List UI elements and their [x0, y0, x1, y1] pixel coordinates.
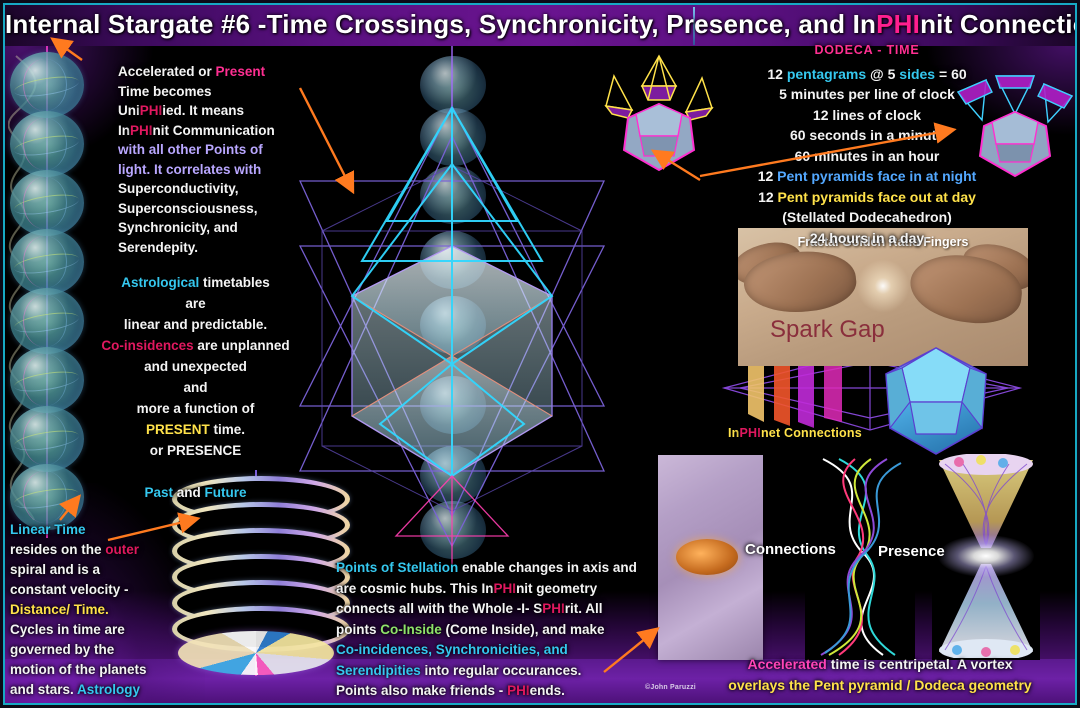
sphere-node: [10, 288, 84, 354]
text-run: are: [185, 296, 205, 311]
text-run: Superconductivity,: [118, 181, 239, 196]
text-line: and: [88, 377, 303, 398]
inphinet-connections-label: InPHInet Connections: [728, 424, 862, 444]
text-run: PHI: [740, 426, 761, 440]
right-edge-cyan-rule: [1077, 452, 1079, 660]
text-run: and unexpected: [144, 359, 247, 374]
text-run: and: [183, 380, 207, 395]
text-line: 12 Pent pyramids face in at night: [742, 166, 992, 187]
text-run: motion of the planets: [10, 662, 147, 677]
text-run: PHI: [140, 103, 163, 118]
text-run: Points of Stellation: [336, 560, 458, 575]
text-run: more a function of: [137, 401, 255, 416]
text-run: time is centripetal. A vortex: [827, 656, 1013, 672]
text-run: governed by the: [10, 642, 114, 657]
copyright-notice: ©John Paruzzi: [645, 684, 696, 691]
text-run: with all other Points of: [118, 142, 263, 157]
vortex-hourglass-graphic: [932, 452, 1040, 660]
text-run: Co-insidences: [101, 338, 193, 353]
astrological-timetables-text: Astrological timetablesarelinear and pre…: [88, 272, 303, 503]
sphere-node: [10, 406, 84, 472]
text-line: constant velocity -: [10, 580, 195, 600]
text-run: outer: [105, 542, 139, 557]
spark-gap-caption: Spark Gap: [770, 316, 885, 344]
text-run: 60 seconds in a minute: [790, 127, 944, 143]
text-run: and stars.: [10, 682, 77, 697]
text-run: pentagrams: [787, 66, 866, 82]
text-run: Linear Time: [10, 522, 86, 537]
text-line: 60 minutes in an hour: [742, 146, 992, 167]
text-run: ends.: [530, 683, 565, 698]
text-run: Co-incidences, Synchronicities, and: [336, 642, 568, 657]
text-run: linear and predictable.: [124, 317, 267, 332]
connections-label: Connections: [745, 540, 836, 560]
time-spiral-coil: [172, 476, 342, 671]
dodeca-time-lines: 12 pentagrams @ 5 sides = 605 minutes pe…: [742, 64, 992, 249]
accelerated-present-time-text: Accelerated or PresentTime becomesUniPHI…: [118, 62, 323, 257]
text-run: PHI: [494, 581, 517, 596]
points-of-stellation-text: Points of Stellation enable changes in a…: [336, 558, 636, 702]
text-run: Co-Inside: [380, 622, 442, 637]
text-run: Pent pyramids face in at night: [777, 168, 976, 184]
text-line: Past and Future: [88, 482, 303, 503]
page-title: Internal Stargate #6 -Time Crossings, Sy…: [5, 9, 1075, 40]
text-run: = 60: [935, 66, 967, 82]
text-line: points Co-Inside (Come Inside), and make: [336, 620, 636, 641]
text-line: Accelerated time is centripetal. A vorte…: [700, 654, 1060, 675]
text-run: Superconsciousness,: [118, 201, 258, 216]
sphere-node: [10, 170, 84, 236]
text-line: Co-insidences are unplanned: [88, 335, 303, 356]
sphere-node: [10, 229, 84, 295]
text-run: In: [118, 123, 130, 138]
text-run: sides: [899, 66, 935, 82]
text-line: PRESENT time.: [88, 419, 303, 440]
text-run: connects all with the Whole -I- S: [336, 601, 542, 616]
text-run: 12: [758, 168, 777, 184]
sphere-node: [10, 347, 84, 413]
text-line: governed by the: [10, 640, 195, 660]
text-run: are unplanned: [194, 338, 290, 353]
text-line: UniPHIied. It means: [118, 101, 323, 121]
text-line: Co-incidences, Synchronicities, and: [336, 640, 636, 661]
text-line: and unexpected: [88, 356, 303, 377]
hand-knot-glow: [676, 539, 738, 575]
text-run: Serendipities: [336, 663, 421, 678]
text-line: are cosmic hubs. This InPHInit geometry: [336, 579, 636, 600]
text-line: connects all with the Whole -I- SPHIrit.…: [336, 599, 636, 620]
sphere-chain-column: [10, 52, 88, 530]
dodeca-time-text: DODECA - TIME 12 pentagrams @ 5 sides = …: [742, 40, 992, 248]
text-run: rit. All: [565, 601, 603, 616]
text-line: Cycles in time are: [10, 620, 195, 640]
text-run: points: [336, 622, 380, 637]
text-run: Astrology: [77, 682, 140, 697]
presence-label: Presence: [878, 542, 945, 562]
text-run: light. It correlates with: [118, 162, 261, 177]
text-run: Past: [144, 485, 173, 500]
text-run: @: [866, 66, 887, 82]
text-line: Synchronicity, and: [118, 218, 323, 238]
text-run: net Connections: [761, 426, 862, 440]
text-line: light. It correlates with: [118, 160, 323, 180]
text-line: more a function of: [88, 398, 303, 419]
text-run: 5 minutes per line of clock: [779, 86, 955, 102]
text-run: PHI: [507, 683, 530, 698]
dodeca-time-heading: DODECA - TIME: [742, 40, 992, 61]
text-line: overlays the Pent pyramid / Dodeca geome…: [700, 675, 1060, 696]
text-run: constant velocity -: [10, 582, 129, 597]
text-run: ied. It means: [162, 103, 244, 118]
text-run: (Come Inside), and make: [442, 622, 605, 637]
text-run: (Stellated Dodecahedron): [782, 209, 952, 225]
text-line: Distance/ Time.: [10, 600, 195, 620]
vortex-center-flare: [938, 535, 1034, 577]
stellated-dodecahedron-yellow-icon: [598, 48, 720, 180]
text-line: Serendepity.: [118, 238, 323, 258]
text-run: are cosmic hubs. This In: [336, 581, 494, 596]
sphere-node: [10, 111, 84, 177]
text-run: Points also make friends -: [336, 683, 507, 698]
text-line: 24 hours in a day: [742, 228, 992, 249]
text-run: spiral and is a: [10, 562, 100, 577]
text-run: into regular occurances.: [421, 663, 582, 678]
text-line: 12 pentagrams @ 5 sides = 60: [742, 64, 992, 85]
text-run: Accelerated: [747, 656, 826, 672]
dodecahedron-blue-icon: [878, 346, 994, 458]
text-line: InPHInit Communication: [118, 121, 323, 141]
coil-base-disc: [178, 631, 334, 675]
text-line: linear and predictable.: [88, 314, 303, 335]
text-line: or PRESENCE: [88, 440, 303, 461]
text-run: or PRESENCE: [150, 443, 242, 458]
sphere-node: [10, 52, 84, 118]
text-run: Future: [205, 485, 247, 500]
linear-time-text: Linear Timeresides on the outerspiral an…: [10, 520, 195, 700]
text-run: Time becomes: [118, 84, 212, 99]
text-line: (Stellated Dodecahedron): [742, 207, 992, 228]
text-run: Cycles in time are: [10, 622, 125, 637]
text-run: Uni: [118, 103, 140, 118]
text-line: 12 lines of clock: [742, 105, 992, 126]
text-run: timetables: [199, 275, 270, 290]
text-run: Serendepity.: [118, 240, 198, 255]
text-run: nit Communication: [153, 123, 275, 138]
text-run: 5: [888, 66, 900, 82]
text-run: overlays the Pent pyramid / Dodeca geome…: [728, 677, 1031, 693]
text-run: Pent pyramids face out at day: [778, 189, 976, 205]
text-line: are: [88, 293, 303, 314]
text-run: Distance/ Time.: [10, 602, 109, 617]
text-line: Astrological timetables: [88, 272, 303, 293]
text-run: 60 minutes in an hour: [795, 148, 940, 164]
text-line: Linear Time: [10, 520, 195, 540]
text-run: PRESENT: [146, 422, 210, 437]
text-line: with all other Points of: [118, 140, 323, 160]
text-line: Time becomes: [118, 82, 323, 102]
text-run: nit geometry: [516, 581, 597, 596]
text-line: spiral and is a: [10, 560, 195, 580]
text-run: time.: [210, 422, 245, 437]
text-run: Accelerated or: [118, 64, 216, 79]
text-line: motion of the planets: [10, 660, 195, 680]
text-run: Present: [216, 64, 266, 79]
text-line: [88, 461, 303, 482]
text-run: enable changes in axis and: [458, 560, 637, 575]
text-line: 5 minutes per line of clock: [742, 84, 992, 105]
text-line: and stars. Astrology: [10, 680, 195, 700]
text-line: Superconductivity,: [118, 179, 323, 199]
text-line: 60 seconds in a minute: [742, 125, 992, 146]
poster-canvas: Internal Stargate #6 -Time Crossings, Sy…: [0, 0, 1080, 708]
text-run: PHI: [130, 123, 153, 138]
title-segment: nit Connections: [920, 9, 1075, 39]
vortex-caption-text: Accelerated time is centripetal. A vorte…: [700, 654, 1060, 696]
text-run: Synchronicity, and: [118, 220, 238, 235]
text-line: Points of Stellation enable changes in a…: [336, 558, 636, 579]
text-run: and: [173, 485, 205, 500]
text-run: 12: [767, 66, 786, 82]
text-line: Serendipities into regular occurances.: [336, 661, 636, 682]
text-run: PHI: [542, 601, 565, 616]
text-run: In: [728, 426, 740, 440]
text-line: 12 Pent pyramids face out at day: [742, 187, 992, 208]
title-segment: PHI: [876, 9, 920, 39]
title-segment: Internal Stargate #6 -Time Crossings, Sy…: [5, 9, 876, 39]
text-run: 24 hours in a day: [810, 230, 924, 246]
text-run: resides on the: [10, 542, 105, 557]
text-line: resides on the outer: [10, 540, 195, 560]
text-run: 12 lines of clock: [813, 107, 921, 123]
text-line: Accelerated or Present: [118, 62, 323, 82]
text-line: Superconsciousness,: [118, 199, 323, 219]
text-run: Astrological: [121, 275, 199, 290]
text-line: Points also make friends - PHIends.: [336, 681, 636, 702]
text-run: 12: [758, 189, 777, 205]
